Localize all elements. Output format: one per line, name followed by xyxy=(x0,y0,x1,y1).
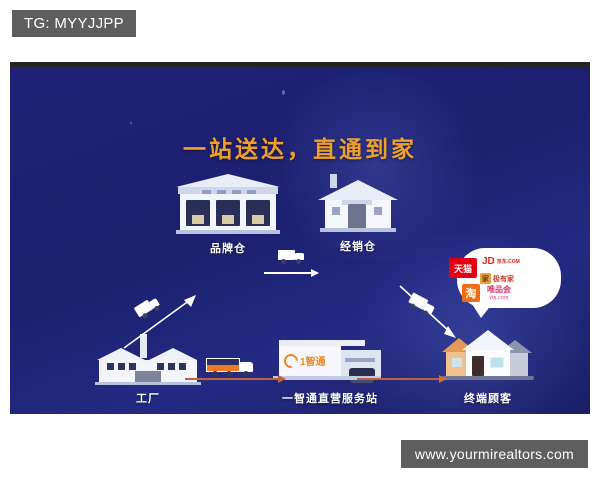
factory-window xyxy=(157,363,164,370)
house-ground xyxy=(442,376,534,380)
background-speck xyxy=(130,122,132,124)
taobao-logo: 淘 xyxy=(462,284,480,302)
brand-warehouse-illustration xyxy=(176,174,280,236)
background-speck xyxy=(282,90,285,95)
house-window xyxy=(332,207,340,215)
label-dealer-warehouse: 经销仓 xyxy=(288,238,428,254)
flow-brand-to-dealer-warehouse xyxy=(264,268,320,278)
arrow-shaft xyxy=(264,272,312,274)
watermark-bottom-right: www.yourmirealtors.com xyxy=(401,440,588,468)
jiyoujia-logo-text: 极有家 xyxy=(493,274,514,284)
station-signage-stripe xyxy=(345,358,375,362)
truck-wheel xyxy=(226,371,232,377)
factory-window xyxy=(179,363,186,370)
supply-chain-infographic: 一站送达，直通到家 品牌仓 经销仓 xyxy=(10,62,590,414)
jd-logo: JD 京东.COM xyxy=(482,254,520,268)
tmall-logo: 天猫 xyxy=(449,258,477,278)
warehouse-loading-bay xyxy=(246,200,270,226)
factory-window xyxy=(129,363,136,370)
arrow-head xyxy=(278,375,286,383)
poster-headline: 一站送达，直通到家 xyxy=(10,130,590,164)
branded-delivery-truck-icon xyxy=(206,358,256,378)
house-ground xyxy=(320,228,396,232)
speech-bubble-tail xyxy=(472,304,492,318)
house-roof xyxy=(462,330,514,350)
label-brand-warehouse: 品牌仓 xyxy=(158,240,298,256)
factory-window xyxy=(118,363,125,370)
warehouse-crate xyxy=(222,215,234,224)
house-window xyxy=(374,207,382,215)
truck-wheel xyxy=(153,305,160,312)
warehouse-roof-band xyxy=(178,187,278,194)
watermark-top-left: TG: MYYJJPP xyxy=(12,10,136,37)
jd-logo-subtext: 京东.COM xyxy=(497,258,520,265)
arrow-shaft xyxy=(357,378,441,380)
station-brand-logo: 1智通 xyxy=(284,353,342,368)
truck-wheel xyxy=(281,259,286,264)
truck-wheel xyxy=(212,371,218,377)
vip-logo-subtext: vip.com xyxy=(489,295,508,301)
house-window xyxy=(490,357,504,368)
warehouse-loading-bay xyxy=(186,200,210,226)
truck-wheel xyxy=(142,312,149,319)
dealer-warehouse-illustration xyxy=(318,174,398,234)
warehouse-ground xyxy=(176,230,280,234)
warehouse-crate xyxy=(252,215,264,224)
house-door xyxy=(348,204,366,228)
factory-window xyxy=(168,363,175,370)
house-window xyxy=(452,358,462,367)
poster-top-bar xyxy=(10,62,590,67)
truck-cargo-box xyxy=(278,250,295,260)
factory-window xyxy=(107,363,114,370)
delivery-truck-icon xyxy=(278,250,306,265)
vip-logo: 唯品会 vip.com xyxy=(487,284,511,300)
label-service-station: 一智通直营服务站 xyxy=(255,390,405,406)
label-factory: 工厂 xyxy=(78,390,218,406)
house-roof xyxy=(318,180,398,200)
arrow-shaft xyxy=(185,378,280,380)
arrow-head xyxy=(311,269,319,277)
warehouse-crate xyxy=(192,215,204,224)
jiyoujia-logo-mark: 家 xyxy=(480,273,491,284)
warehouse-loading-bay xyxy=(216,200,240,226)
jd-logo-text: JD xyxy=(482,256,495,267)
label-customer: 终端顾客 xyxy=(418,390,558,406)
truck-wheel xyxy=(296,259,301,264)
station-brand-logo-text: 1智通 xyxy=(300,353,326,368)
house-door xyxy=(472,356,484,376)
truck-cargo-top xyxy=(207,359,239,365)
arrow-head xyxy=(439,375,447,383)
vip-logo-text: 唯品会 xyxy=(487,284,511,295)
truck-wheel xyxy=(243,371,249,377)
warehouse-roof xyxy=(176,174,280,187)
circular-arrow-icon xyxy=(281,351,301,371)
